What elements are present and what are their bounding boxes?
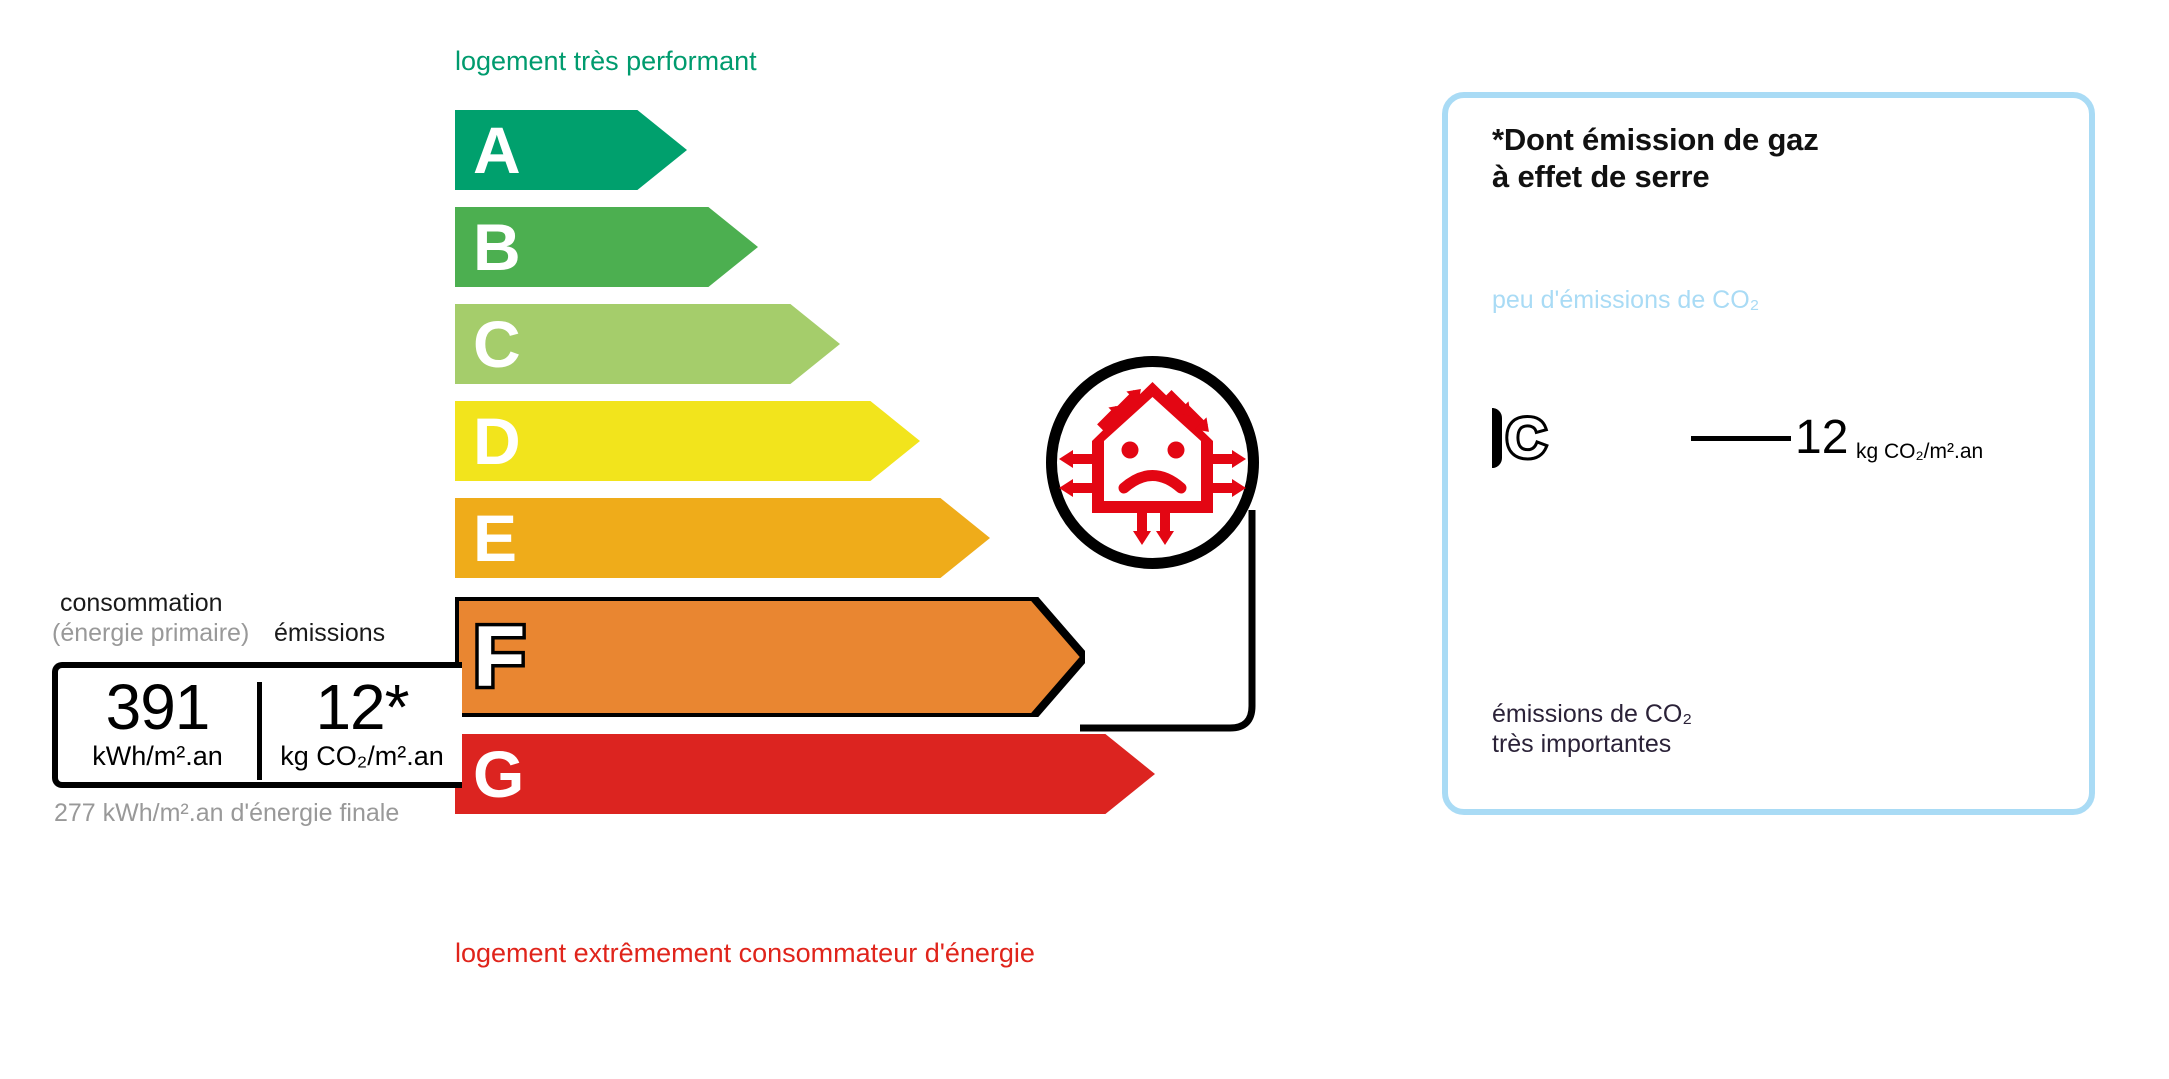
emissions-value: 12* (315, 677, 408, 738)
grade-arrow-shape (455, 498, 990, 578)
co2-grade-row-g[interactable]: G (1492, 606, 1822, 644)
grade-letter-a: A (473, 117, 521, 183)
grade-arrow-shape (455, 401, 920, 481)
grade-letter-d: D (473, 408, 521, 474)
scale-bottom-caption: logement extrêmement consommateur d'éner… (455, 940, 1035, 967)
grade-arrow-shape (455, 597, 1085, 717)
co2-grade-letter-a: A (1504, 322, 1529, 356)
co2-callout-unit: kg CO₂/m².an (1856, 441, 1983, 462)
co2-bar-shape (1492, 408, 1502, 468)
emissions-value-cell: 12* kg CO₂/m².an (262, 668, 462, 782)
consumption-value-box: 391 kWh/m².an 12* kg CO₂/m².an (52, 662, 462, 788)
co2-grade-row-e[interactable]: E (1492, 518, 1758, 556)
co2-grade-row-c[interactable]: C (1492, 408, 1677, 468)
primary-energy-unit: kWh/m².an (92, 740, 223, 772)
grade-letter-b: B (473, 214, 521, 280)
emissions-title: émissions (274, 620, 385, 646)
consumption-subtitle: (énergie primaire) (52, 620, 249, 646)
co2-grade-letter-c: C (1506, 410, 1546, 466)
co2-grade-letter-f: F (1504, 564, 1525, 598)
grade-arrow-shape (455, 734, 1155, 814)
co2-grade-letter-d: D (1504, 476, 1529, 510)
grade-letter-f: F (473, 614, 526, 700)
emissions-unit: kg CO₂/m².an (280, 740, 444, 772)
co2-grade-row-d[interactable]: D (1492, 474, 1722, 512)
grade-letter-g: G (473, 741, 524, 807)
energy-grade-row-e[interactable]: E (455, 498, 990, 578)
energy-grade-row-d[interactable]: D (455, 401, 920, 481)
dpe-energy-label: logement très performant ABCDEFG logemen… (0, 0, 2169, 1079)
co2-grade-row-a[interactable]: A (1492, 320, 1592, 358)
co2-grade-letter-e: E (1504, 520, 1527, 554)
final-energy-footnote: 277 kWh/m².an d'énergie finale (54, 798, 399, 828)
co2-callout-value: 12 (1795, 414, 1848, 462)
energy-grade-row-g[interactable]: G (455, 734, 1155, 814)
primary-energy-cell: 391 kWh/m².an (58, 668, 257, 782)
co2-emissions-panel: *Dont émission de gaz à effet de serre p… (1442, 92, 2095, 815)
co2-panel-title: *Dont émission de gaz à effet de serre (1492, 122, 1819, 195)
co2-grade-row-b[interactable]: B (1492, 364, 1628, 402)
scale-top-caption: logement très performant (455, 48, 757, 75)
energy-performance-scale: logement très performant ABCDEFG logemen… (0, 0, 1330, 1079)
primary-energy-value: 391 (106, 677, 210, 738)
sad-house-heat-loss-icon (1045, 355, 1260, 570)
co2-bottom-caption: émissions de CO₂ très importantes (1492, 700, 1692, 759)
energy-grade-row-c[interactable]: C (455, 304, 840, 384)
co2-callout-line (1691, 436, 1791, 441)
energy-grade-row-f[interactable]: F (455, 597, 1085, 717)
co2-grade-letter-b: B (1504, 366, 1529, 400)
grade-letter-e: E (473, 505, 517, 571)
grade-letter-c: C (473, 311, 521, 377)
co2-top-caption: peu d'émissions de CO₂ (1492, 288, 1759, 313)
energy-grade-row-a[interactable]: A (455, 110, 687, 190)
co2-grade-letter-g: G (1504, 608, 1530, 642)
consumption-title: consommation (60, 590, 223, 616)
co2-grade-row-f[interactable]: F (1492, 562, 1795, 600)
energy-grade-row-b[interactable]: B (455, 207, 758, 287)
